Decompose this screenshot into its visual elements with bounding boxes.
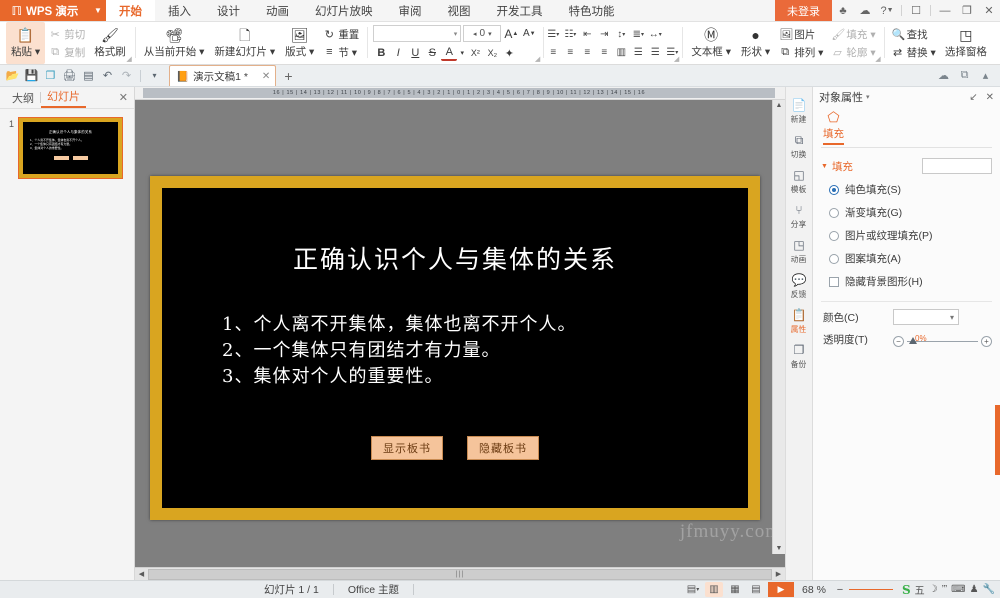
slide-canvas[interactable]: 正确认识个人与集体的关系 1、个人离不开集体，集体也离不开个人。 2、一个集体只… [135, 100, 785, 567]
superscript-button[interactable]: X² [467, 45, 483, 61]
thumbnail-panel-header: 大纲 幻灯片 ✕ [0, 87, 134, 109]
divider [930, 5, 931, 16]
ribbon-toolbar: 📋 粘贴 ▾ ✂ 剪切 ⧉ 复制 🖌 格式刷 ◢ � [0, 22, 1000, 65]
editing-area: 16 | 15 | 14 | 13 | 12 | 11 | 10 | 9 | 8… [135, 87, 785, 580]
title-bar: ℿ WPS 演示 ▼ 开始 插入 设计 动画 幻灯片放映 审阅 视图 开发工具 … [0, 0, 1000, 22]
help-icon[interactable]: ?▼ [876, 0, 898, 21]
option-gradient-fill[interactable]: 渐变填充(G) [813, 201, 1000, 224]
radio-icon[interactable] [829, 254, 839, 264]
vertical-scrollbar[interactable]: ▲ ▼ [772, 100, 785, 554]
font-color-button[interactable]: A [441, 45, 457, 61]
ribbon-group-font: ▾ ◂0▾ A▲ A▼ B I U S A ▾ X² X₂ ✦ ◢ [367, 22, 543, 64]
reset-icon: ↻ [323, 28, 335, 41]
open-icon[interactable]: 📂 [4, 67, 21, 84]
slide-editor[interactable]: 正确认识个人与集体的关系 1、个人离不开集体，集体也离不开个人。 2、一个集体只… [150, 176, 760, 520]
tab-slides[interactable]: 幻灯片 [41, 88, 86, 108]
replace-icon: ⇄ [892, 46, 904, 59]
chevron-down-icon[interactable]: ▾ [866, 93, 870, 101]
start-slideshow-button[interactable]: ▶ [768, 582, 794, 597]
task-pane-title: 对象属性 [819, 89, 863, 105]
theme-label: Office 主题 [334, 582, 413, 597]
document-tab-icon: 📙 [176, 70, 189, 83]
replace-button[interactable]: ⇄ 替换 ▾ [888, 44, 940, 61]
right-side-rail: 📄 新建 ⧉ 切换 ◱ 模板 ⑂ 分享 ◳ 动画 💬 反馈 [785, 87, 812, 580]
thumbnail-title: 正确认识个人与集体的关系 [27, 129, 114, 134]
tab-fill[interactable]: ⬠ 填充 [823, 110, 844, 145]
scrollbar-track[interactable]: ||| [148, 569, 772, 580]
undo-icon[interactable]: ↶ [99, 67, 116, 84]
document-tab-close-icon[interactable]: ✕ [262, 71, 270, 82]
template-icon: ◱ [793, 169, 804, 182]
ruler-marks[interactable]: 16 | 15 | 14 | 13 | 12 | 11 | 10 | 9 | 8… [143, 88, 775, 98]
thumbnail-button [73, 156, 88, 160]
backup-icon: ❐ [794, 344, 805, 357]
ime-moon-icon[interactable]: ☽ [929, 584, 938, 595]
shape-button[interactable]: ● 形状 ▾ [736, 22, 775, 64]
new-slide-button[interactable]: 🗋 新建幻灯片 ▾ [209, 22, 280, 64]
textbox-icon: Ⓜ [704, 28, 718, 43]
scroll-right-icon[interactable]: ▶ [772, 570, 785, 578]
char-spacing-button[interactable]: ↔▾ [647, 26, 663, 42]
new-slide-icon: 🗋 [239, 28, 250, 43]
properties-icon: 📋 [792, 309, 807, 322]
textbox-button[interactable]: Ⓜ 文本框 ▾ [686, 22, 736, 64]
decrease-indent-button[interactable]: ⇤ [579, 26, 595, 42]
slide-action-buttons: 显示板书 隐藏板书 [162, 436, 748, 460]
main-body: 大纲 幻灯片 ✕ 1 正确认识个人与集体的关系 1、个人离不开集体，集体也离不开… [0, 87, 1000, 580]
shrink-font-button[interactable]: A▼ [521, 26, 537, 42]
font-dialog-launcher[interactable]: ◢ [535, 55, 540, 63]
slider-handle[interactable] [909, 337, 917, 344]
search-icon: 🔍 [892, 28, 904, 41]
divider [901, 5, 902, 16]
slider-increase-button[interactable]: + [981, 336, 992, 347]
ribbon-tab-slideshow[interactable]: 幻灯片放映 [302, 0, 386, 21]
ribbon-group-drawing: Ⓜ 文本框 ▾ ● 形状 ▾ 🖼 图片 ⧉ 排列 ▾ 🖌 [682, 22, 883, 64]
slide-body-text[interactable]: 1、个人离不开集体，集体也离不开个人。 2、一个集体只有团结才有力量。 3、集体… [222, 312, 728, 390]
ribbon-group-slides: 📽 从当前开始 ▾ 🗋 新建幻灯片 ▾ 🖼 版式 ▾ ↻ 重置 ≡ 节 ▾ [135, 22, 368, 64]
format-painter-button[interactable]: 🖌 格式刷 [89, 22, 131, 64]
save-icon[interactable]: 💾 [23, 67, 40, 84]
clipboard-dialog-launcher[interactable]: ◢ [126, 55, 131, 63]
slide-thumbnail-panel: 大纲 幻灯片 ✕ 1 正确认识个人与集体的关系 1、个人离不开集体，集体也离不开… [0, 87, 135, 580]
paragraph-dialog-launcher[interactable]: ◢ [674, 55, 679, 63]
watermark-text: jfmuyy.com [680, 521, 781, 543]
save-as-icon[interactable]: ❐ [42, 67, 59, 84]
ribbon-group-editing: 🔍 查找 ⇄ 替换 ▾ ◳ 选择窗格 [884, 22, 996, 64]
radio-icon[interactable] [829, 208, 839, 218]
smart-align-button[interactable]: ☰ [630, 44, 646, 60]
color-dropdown[interactable]: ▾ [893, 309, 959, 325]
align-center-button[interactable]: ≡ [562, 44, 578, 60]
undock-pane-icon[interactable]: ↙ [969, 92, 977, 103]
slide-thumbnail[interactable]: 正确认识个人与集体的关系 1、个人离不开集体，集体也离不开个人。 2、一个集体只… [18, 117, 123, 179]
arrange-icon: ⧉ [779, 46, 791, 59]
copy-button[interactable]: ⧉ 复制 [45, 44, 89, 61]
slide-sorter-view-button[interactable]: ▦ [726, 582, 744, 597]
rail-item-properties[interactable]: 📋 属性 [786, 309, 813, 335]
pane-edge-accent [995, 405, 1000, 475]
bold-button[interactable]: B [373, 45, 389, 61]
scroll-up-icon[interactable]: ▲ [776, 100, 783, 111]
ribbon-tab-developer[interactable]: 开发工具 [484, 0, 556, 21]
thumbnail-button [54, 156, 69, 160]
fill-shape-icon: ⬠ [827, 110, 839, 125]
font-size-input[interactable]: ◂0▾ [463, 25, 501, 42]
ime-keyboard-icon[interactable]: ⌨ [951, 584, 965, 595]
transparency-label: 透明度(T) [823, 332, 893, 347]
rail-item-feedback[interactable]: 💬 反馈 [786, 274, 813, 300]
object-properties-pane: 对象属性 ▾ ↙ ✕ ⬠ 填充 ▼ 填充 纯色 [812, 87, 1000, 580]
status-bar: 幻灯片 1 / 1 Office 主题 ▤▾ ▥ ▦ ▤ ▶ 68 % − S … [0, 580, 1000, 598]
bullets-button[interactable]: ☰▾ [545, 26, 561, 42]
ribbon-tab-strip: 开始 插入 设计 动画 幻灯片放映 审阅 视图 开发工具 特色功能 [106, 0, 628, 21]
subscript-button[interactable]: X₂ [484, 45, 500, 61]
divider [140, 70, 141, 82]
fill-button[interactable]: 🖌 填充 ▾ [827, 26, 879, 43]
paste-icon: 📋 [17, 28, 34, 43]
option-solid-fill[interactable]: 纯色填充(S) [813, 178, 1000, 201]
arrange-button[interactable]: ⧉ 排列 ▾ [775, 44, 827, 61]
task-pane-header: 对象属性 ▾ ↙ ✕ [813, 87, 1000, 107]
document-tab-bar: 📂 💾 ❐ 🖨 ▤ ↶ ↷ ▾ 📙 演示文稿1 * ✕ + ☁ ⧉ ▴ [0, 65, 1000, 87]
slide-background: 正确认识个人与集体的关系 1、个人离不开集体，集体也离不开个人。 2、一个集体只… [162, 188, 748, 508]
document-tab[interactable]: 📙 演示文稿1 * ✕ [169, 65, 276, 86]
selection-pane-button[interactable]: ◳ 选择窗格 [940, 22, 992, 64]
justify-button[interactable]: ≡ [596, 44, 612, 60]
section-icon: ≡ [323, 46, 335, 58]
title-bar-controls: 未登录 ♣ ☁ ?▼ ☐ — ❐ ✕ [775, 0, 1000, 21]
reset-button[interactable]: ↻ 重置 [319, 26, 363, 43]
new-document-icon: 📄 [792, 99, 807, 112]
text-direction-button[interactable]: ↕▾ [613, 26, 629, 42]
projector-icon: 📽 [165, 28, 183, 43]
thumbnail-bullet: 3、集体对个人的重要性。 [30, 146, 114, 150]
font-name-input[interactable]: ▾ [373, 25, 461, 42]
wps-logo-icon: ℿ [12, 4, 22, 18]
customize-toolbar-icon[interactable]: ▾ [146, 67, 163, 84]
wps-brand-label: WPS 演示 [26, 3, 78, 19]
layout-icon: 🖼 [291, 28, 309, 43]
triangle-icon: ▼ [821, 163, 828, 170]
slide-counter: 幻灯片 1 / 1 [250, 582, 333, 597]
cloud-sync-icon[interactable]: ☁ [935, 67, 952, 84]
scissors-icon: ✂ [49, 28, 61, 41]
section-button[interactable]: ≡ 节 ▾ [319, 44, 363, 61]
app-menu-caret-icon[interactable]: ▼ [90, 0, 106, 21]
thumbnail-number: 1 [6, 117, 14, 129]
print-preview-icon[interactable]: ▤ [80, 67, 97, 84]
columns-button[interactable]: ▥ [613, 44, 629, 60]
close-pane-icon[interactable]: ✕ [986, 92, 994, 103]
color-label: 颜色(C) [823, 310, 893, 325]
skin-icon[interactable]: ♣ [832, 0, 854, 21]
outline-icon: ▱ [831, 46, 843, 59]
find-button[interactable]: 🔍 查找 [888, 26, 940, 43]
checkbox-icon[interactable] [829, 277, 839, 287]
rail-item-new[interactable]: 📄 新建 [786, 99, 813, 125]
cut-button[interactable]: ✂ 剪切 [45, 26, 89, 43]
upload-icon[interactable]: ☐ [905, 0, 927, 21]
increase-indent-button[interactable]: ⇥ [596, 26, 612, 42]
rail-item-backup[interactable]: ❐ 备份 [786, 344, 813, 370]
close-panel-icon[interactable]: ✕ [119, 91, 128, 104]
radio-icon[interactable] [829, 231, 839, 241]
ribbon-tab-features[interactable]: 特色功能 [556, 0, 628, 21]
ime-user-icon[interactable]: ♟ [970, 584, 979, 595]
ribbon-tab-view[interactable]: 视图 [435, 0, 484, 21]
ribbon-tab-design[interactable]: 设计 [204, 0, 253, 21]
line-spacing-button[interactable]: ≣▾ [630, 26, 646, 42]
redo-icon[interactable]: ↷ [118, 67, 135, 84]
share-icon[interactable]: ⧉ [956, 67, 973, 84]
transparency-slider[interactable]: − 0% + [893, 332, 992, 347]
horizontal-scrollbar[interactable]: ◀ ||| ▶ [135, 567, 785, 580]
close-icon[interactable]: ✕ [978, 0, 1000, 21]
task-pane-tabs: ⬠ 填充 [813, 107, 1000, 145]
rail-item-template[interactable]: ◱ 模板 [786, 169, 813, 195]
slider-decrease-button[interactable]: − [893, 336, 904, 347]
ime-tools-icon[interactable]: 🔧 [983, 584, 995, 595]
ime-punctuation-icon[interactable]: ’” [942, 584, 948, 595]
reading-view-button[interactable]: ▤▾ [684, 582, 702, 597]
collapse-ribbon-icon[interactable]: ▴ [977, 67, 994, 84]
ribbon-tab-start[interactable]: 开始 [106, 0, 155, 21]
numbering-button[interactable]: ☷▾ [562, 26, 578, 42]
outline-button[interactable]: ▱ 轮廓 ▾ [827, 44, 879, 61]
convert-smartart-button[interactable]: ☰ [647, 44, 663, 60]
grow-font-button[interactable]: A▲ [503, 26, 519, 42]
option-picture-texture-fill[interactable]: 图片或纹理填充(P) [813, 224, 1000, 247]
brush-icon: 🖌 [101, 28, 119, 43]
ime-toolbar: S 五 ☽ ’” ⌨ ♟ 🔧 [896, 582, 995, 597]
animation-icon: ◳ [793, 239, 804, 252]
normal-view-button[interactable]: ▥ [705, 582, 723, 597]
strikethrough-button[interactable]: S [424, 45, 440, 61]
document-tab-label: 演示文稿1 * [193, 69, 248, 84]
layout-button[interactable]: 🖼 版式 ▾ [280, 22, 319, 64]
drawing-dialog-launcher[interactable]: ◢ [875, 55, 880, 63]
slider-track[interactable]: 0% [907, 341, 978, 342]
ribbon-tab-review[interactable]: 审阅 [386, 0, 435, 21]
radio-icon[interactable] [829, 185, 839, 195]
slide-bullet-2: 2、一个集体只有团结才有力量。 [222, 338, 728, 364]
zoom-out-button[interactable]: − [834, 584, 846, 596]
tab-outline[interactable]: 大纲 [6, 90, 40, 106]
ribbon-tab-insert[interactable]: 插入 [155, 0, 204, 21]
ribbon-tab-animation[interactable]: 动画 [253, 0, 302, 21]
transparency-row: 透明度(T) − 0% + [813, 325, 1000, 347]
wps-logo[interactable]: ℿ WPS 演示 [0, 0, 90, 21]
paste-button[interactable]: 📋 粘贴 ▾ [6, 22, 45, 64]
slide-title-text[interactable]: 正确认识个人与集体的关系 [162, 240, 748, 276]
shape-icon: ● [751, 28, 759, 43]
slide-bullet-1: 1、个人离不开集体，集体也离不开个人。 [222, 312, 728, 338]
restore-icon[interactable]: ❐ [956, 0, 978, 21]
hide-blackboard-button[interactable]: 隐藏板书 [467, 436, 539, 460]
cloud-icon[interactable]: ☁ [854, 0, 876, 21]
horizontal-ruler: 16 | 15 | 14 | 13 | 12 | 11 | 10 | 9 | 8… [135, 87, 785, 100]
option-hide-background-graphics[interactable]: 隐藏背景图形(H) [813, 270, 1000, 293]
scroll-left-icon[interactable]: ◀ [135, 570, 148, 578]
picture-button[interactable]: 🖼 图片 [775, 26, 827, 43]
rail-item-share[interactable]: ⑂ 分享 [786, 204, 813, 230]
transition-icon: ⧉ [795, 134, 804, 147]
fill-preview-box[interactable] [922, 158, 992, 174]
copy-icon: ⧉ [49, 46, 61, 59]
font-color-caret-icon[interactable]: ▾ [458, 45, 466, 61]
fill-section-header[interactable]: ▼ 填充 [813, 148, 1000, 178]
underline-button[interactable]: U [407, 45, 423, 61]
ime-mode-icon[interactable]: 五 [915, 582, 925, 597]
print-icon[interactable]: 🖨 [61, 67, 78, 84]
picture-icon: 🖼 [779, 28, 791, 41]
start-from-current-button[interactable]: 📽 从当前开始 ▾ [139, 22, 210, 64]
login-button[interactable]: 未登录 [775, 0, 832, 21]
fill-icon: 🖌 [831, 28, 843, 41]
rail-item-animation[interactable]: ◳ 动画 [786, 239, 813, 265]
feedback-icon: 💬 [792, 274, 807, 287]
notes-view-button[interactable]: ▤ [747, 582, 765, 597]
share-icon: ⑂ [795, 204, 802, 217]
ribbon-group-paragraph: ☰▾ ☷▾ ⇤ ⇥ ↕▾ ≣▾ ↔▾ ≡ ≡ ≡ ≡ ▥ ☰ ☰ ☰▾ ◢ [543, 22, 682, 64]
selection-pane-icon: ◳ [959, 28, 972, 43]
rail-item-transition[interactable]: ⧉ 切换 [786, 134, 813, 160]
thumbnail-list: 1 正确认识个人与集体的关系 1、个人离不开集体，集体也离不开个人。 2、一个集… [0, 109, 134, 187]
slide-bullet-3: 3、集体对个人的重要性。 [222, 364, 728, 390]
zoom-level-label[interactable]: 68 % [797, 584, 831, 596]
divider [413, 584, 414, 595]
ribbon-group-clipboard: 📋 粘贴 ▾ ✂ 剪切 ⧉ 复制 🖌 格式刷 ◢ [2, 22, 135, 64]
new-document-tab-button[interactable]: + [278, 68, 298, 84]
minimize-icon[interactable]: — [934, 0, 956, 21]
color-row: 颜色(C) ▾ [813, 302, 1000, 325]
show-blackboard-button[interactable]: 显示板书 [371, 436, 443, 460]
option-pattern-fill[interactable]: 图案填充(A) [813, 247, 1000, 270]
align-left-button[interactable]: ≡ [545, 44, 561, 60]
scroll-down-icon[interactable]: ▼ [776, 543, 783, 554]
zoom-slider[interactable] [849, 589, 893, 590]
thumbnail-item[interactable]: 1 正确认识个人与集体的关系 1、个人离不开集体，集体也离不开个人。 2、一个集… [6, 117, 128, 179]
align-right-button[interactable]: ≡ [579, 44, 595, 60]
scrollbar-thumb[interactable]: ||| [148, 569, 772, 580]
italic-button[interactable]: I [390, 45, 406, 61]
sogou-logo-icon[interactable]: S [902, 583, 911, 597]
clear-format-button[interactable]: ✦ [501, 45, 517, 61]
